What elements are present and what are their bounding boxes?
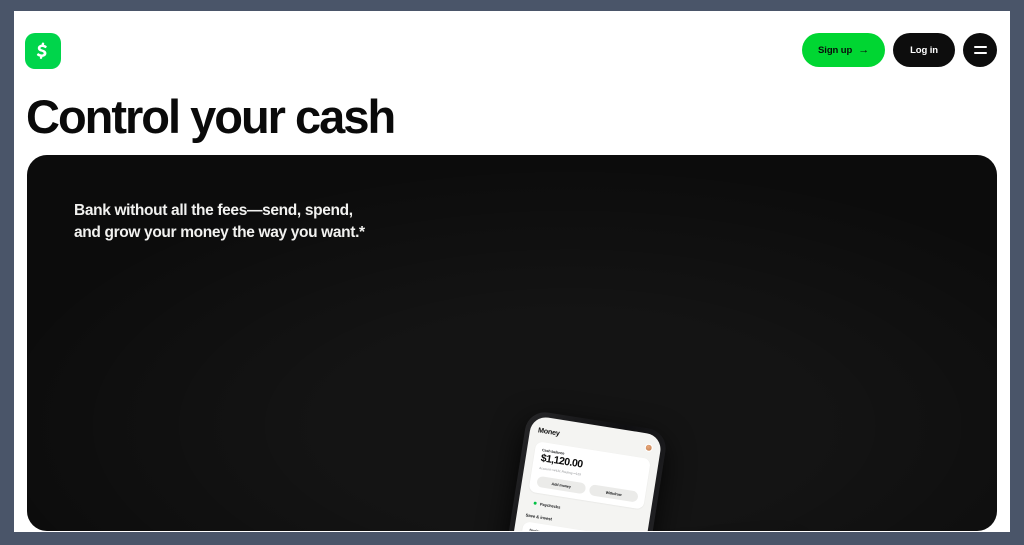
phone-mockup: Money Cash balance $1,120.00 Account ••4… — [483, 409, 669, 531]
paychecks-status-dot-icon — [533, 501, 537, 505]
menu-bar-top — [974, 46, 987, 48]
hero-panel: Bank without all the fees—send, spend, a… — [27, 155, 997, 531]
site-header: Sign up → Log in — [14, 11, 1010, 85]
log-in-label: Log in — [910, 45, 938, 56]
page-title: Control your cash — [26, 93, 394, 140]
outer-frame: Sign up → Log in Control your cash Bank … — [0, 0, 1024, 545]
phone-screen-title: Money — [537, 425, 560, 437]
paychecks-label: Paychecks — [540, 502, 561, 510]
page-canvas: Sign up → Log in Control your cash Bank … — [14, 11, 1010, 532]
sign-up-button[interactable]: Sign up → — [802, 33, 885, 67]
add-money-button[interactable]: Add money — [536, 476, 586, 495]
phone-screen: Money Cash balance $1,120.00 Account ••4… — [488, 415, 663, 531]
arrow-right-icon: → — [858, 45, 869, 56]
hero-subtitle: Bank without all the fees—send, spend, a… — [74, 200, 365, 244]
user-avatar-icon[interactable] — [644, 443, 653, 452]
cash-app-dollar-logo-icon[interactable] — [25, 33, 61, 69]
menu-bar-bottom — [974, 52, 987, 54]
withdraw-button[interactable]: Withdraw — [589, 484, 639, 503]
log-in-button[interactable]: Log in — [893, 33, 955, 67]
phone-body: Money Cash balance $1,120.00 Account ••4… — [483, 409, 669, 531]
header-actions: Sign up → Log in — [802, 33, 997, 67]
sign-up-label: Sign up — [818, 45, 852, 56]
hamburger-menu-icon[interactable] — [963, 33, 997, 67]
